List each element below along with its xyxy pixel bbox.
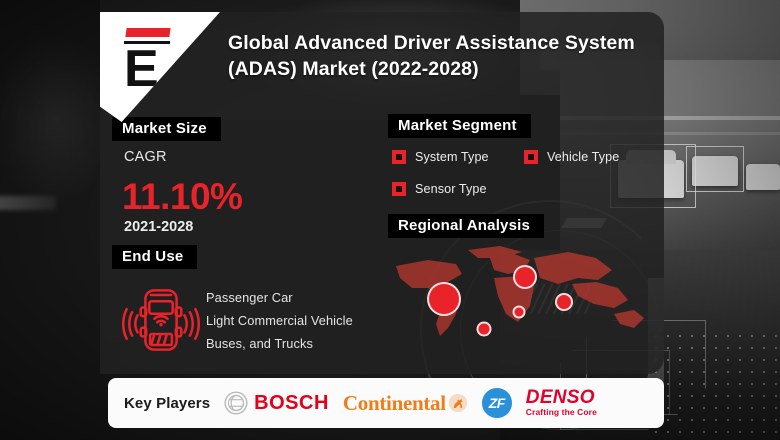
segment-label: Vehicle Type	[547, 150, 619, 164]
map-marker-south-america	[477, 322, 492, 337]
segment-item-system-type: System Type	[392, 150, 524, 164]
map-marker-europe	[513, 265, 537, 289]
denso-wordmark: DENSO	[526, 389, 595, 407]
page-title-line-1: Global Advanced Driver Assistance System	[228, 30, 648, 56]
segment-item-vehicle-type: Vehicle Type	[524, 150, 656, 164]
logo-letter: E	[124, 46, 158, 92]
page-title: Global Advanced Driver Assistance System…	[228, 30, 648, 82]
market-size-section: Market Size CAGR 11.10% 2021-2028	[112, 117, 358, 235]
logo-zf: ZF	[482, 388, 512, 418]
right-column: Market Segment System Type Vehicle Type	[388, 114, 656, 340]
bosch-wordmark: BOSCH	[254, 392, 329, 415]
square-bullet-icon	[392, 182, 406, 196]
denso-tagline: Crafting the Core	[526, 407, 597, 417]
page-title-line-2: (ADAS) Market (2022-2028)	[228, 56, 648, 82]
key-players-label: Key Players	[124, 395, 210, 412]
continental-horse-icon	[448, 393, 468, 413]
list-item: Light Commercial Vehicle	[206, 309, 353, 332]
map-marker-africa	[513, 306, 526, 319]
market-segment-list: System Type Vehicle Type Sensor Type	[392, 150, 656, 196]
logo-continental: Continental	[343, 391, 468, 416]
market-segment-chip: Market Segment	[388, 114, 531, 138]
segment-label: Sensor Type	[415, 182, 487, 196]
regional-analysis-section: Regional Analysis	[388, 214, 656, 340]
segment-row: System Type Vehicle Type	[392, 150, 656, 164]
cagr-label: CAGR	[124, 149, 358, 165]
logo-badge: E	[100, 12, 220, 122]
left-column: Market Size CAGR 11.10% 2021-2028 End Us…	[112, 117, 358, 359]
list-item: Passenger Car	[206, 286, 353, 309]
market-size-chip: Market Size	[112, 117, 221, 141]
segment-label: System Type	[415, 150, 489, 164]
segment-row: Sensor Type	[392, 182, 656, 196]
world-map-icon	[382, 244, 654, 340]
logo-denso: DENSO Crafting the Core	[526, 389, 597, 417]
world-map	[382, 244, 654, 340]
map-marker-asia-pacific	[555, 293, 573, 311]
map-marker-north-america	[427, 282, 461, 316]
zf-wordmark: ZF	[482, 388, 512, 418]
infographic-panel: E Global Advanced Driver Assistance Syst…	[100, 12, 664, 374]
end-use-section: End Use	[112, 245, 358, 359]
regional-analysis-chip: Regional Analysis	[388, 214, 544, 238]
end-use-chip: End Use	[112, 245, 197, 269]
segment-item-sensor-type: Sensor Type	[392, 182, 524, 196]
logo-red-bar	[125, 28, 170, 37]
continental-wordmark: Continental	[343, 391, 446, 416]
square-bullet-icon	[524, 150, 538, 164]
cagr-period: 2021-2028	[124, 219, 358, 235]
logo-bosch: BOSCH	[224, 391, 329, 415]
key-players-bar: Key Players BOSCH Continental ZF DENSO C…	[108, 378, 664, 428]
cagr-value: 11.10%	[122, 177, 358, 217]
car-sensor-icon	[122, 281, 200, 359]
market-segment-section: Market Segment System Type Vehicle Type	[388, 114, 656, 196]
e-logo-icon: E	[122, 28, 180, 102]
end-use-body: Passenger Car Light Commercial Vehicle B…	[122, 281, 358, 359]
end-use-list: Passenger Car Light Commercial Vehicle B…	[206, 286, 353, 355]
square-bullet-icon	[392, 150, 406, 164]
bosch-emblem-icon	[224, 391, 248, 415]
list-item: Buses, and Trucks	[206, 332, 353, 355]
